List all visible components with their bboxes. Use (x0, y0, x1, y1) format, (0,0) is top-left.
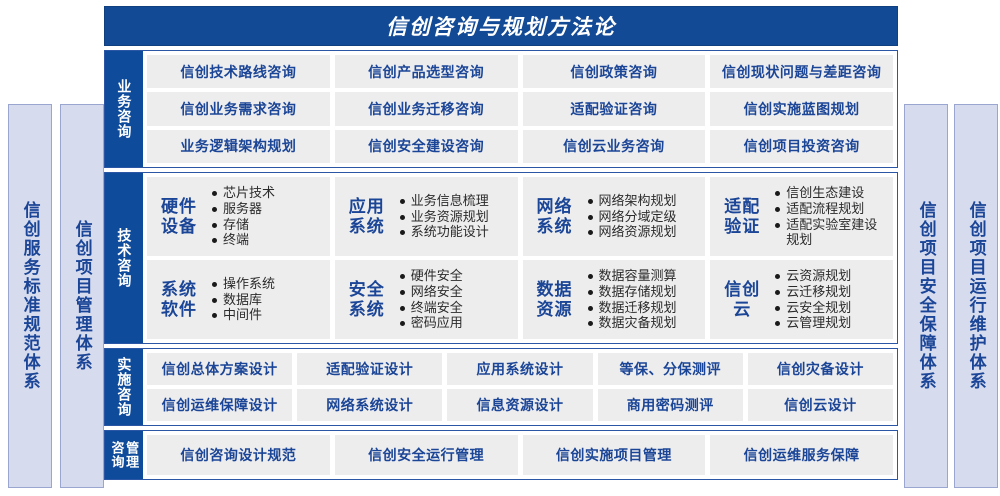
list-item: 终端 (211, 232, 324, 248)
list-item[interactable]: 适配验证咨询 (523, 92, 706, 125)
table-row: 系统软件操作系统数据库中间件安全系统硬件安全网络安全终端安全密码应用数据资源数据… (147, 260, 893, 339)
list-item: 云管理规划 (774, 315, 887, 331)
list-item: 业务资源规划 (399, 209, 512, 225)
section-label-business: 业务咨询 (105, 51, 143, 167)
pillar-label: 信创项目安全保障体系 (917, 201, 934, 391)
list-item[interactable]: 网络系统设计 (297, 389, 442, 421)
section-body-business: 信创技术路线咨询 信创产品选型咨询 信创政策咨询 信创现状问题与差距咨询 信创业… (143, 51, 897, 167)
section-label-text-col2: 管理 (125, 441, 139, 469)
list-item[interactable]: 信创运维服务保障 (710, 435, 893, 475)
tech-card-title: 应用系统 (341, 197, 393, 235)
pillar-project-management: 信创项目管理体系 (60, 104, 104, 488)
tech-card-title: 信创云 (716, 280, 768, 318)
list-item[interactable]: 信创安全建设咨询 (335, 130, 518, 163)
list-item[interactable]: 信创政策咨询 (523, 55, 706, 88)
table-row: 业务逻辑架构规划 信创安全建设咨询 信创云业务咨询 信创项目投资咨询 (147, 130, 893, 163)
list-item: 适配实验室建设规划 (774, 217, 887, 249)
list-item: 网络架构规划 (587, 193, 700, 209)
list-item: 云安全规划 (774, 300, 887, 316)
page-title: 信创咨询与规划方法论 (386, 11, 616, 41)
tech-card-title: 数据资源 (529, 280, 581, 318)
pillar-security-guarantee: 信创项目安全保障体系 (904, 104, 948, 488)
tech-card-list: 业务信息梳理业务资源规划系统功能设计 (399, 193, 512, 241)
list-item[interactable]: 业务逻辑架构规划 (147, 130, 330, 163)
list-item: 存储 (211, 217, 324, 233)
section-body-technical: 硬件设备芯片技术服务器存储终端应用系统业务信息梳理业务资源规划系统功能设计网络系… (143, 173, 897, 343)
section-label-text: 实施咨询 (117, 357, 132, 417)
diagram-canvas: 信创服务标准规范体系 信创项目管理体系 信创项目安全保障体系 信创项目运行维护体… (0, 0, 1000, 496)
tech-card[interactable]: 系统软件操作系统数据库中间件 (147, 260, 330, 339)
table-row: 信创总体方案设计 适配验证设计 应用系统设计 等保、分保测评 信创灾备设计 (147, 353, 893, 385)
tech-card-title: 网络系统 (529, 197, 581, 235)
pillar-operation-maintenance: 信创项目运行维护体系 (954, 104, 998, 488)
section-label-text: 业务咨询 (117, 79, 132, 139)
list-item: 系统功能设计 (399, 224, 512, 240)
list-item[interactable]: 信创灾备设计 (748, 353, 893, 385)
list-item: 服务器 (211, 201, 324, 217)
tech-card-list: 硬件安全网络安全终端安全密码应用 (399, 268, 512, 331)
tech-card-list: 芯片技术服务器存储终端 (211, 185, 324, 248)
list-item: 终端安全 (399, 300, 512, 316)
list-item[interactable]: 信创云设计 (748, 389, 893, 421)
section-body-management: 信创咨询设计规范 信创安全运行管理 信创实施项目管理 信创运维服务保障 (143, 431, 897, 479)
tech-card-list: 网络架构规划网络分域定级网络资源规划 (587, 193, 700, 241)
list-item: 云资源规划 (774, 268, 887, 284)
list-item[interactable]: 信创产品选型咨询 (335, 55, 518, 88)
list-item: 网络资源规划 (587, 224, 700, 240)
tech-card[interactable]: 硬件设备芯片技术服务器存储终端 (147, 177, 330, 256)
tech-card[interactable]: 数据资源数据容量测算数据存储规划数据迁移规划数据灾备规划 (523, 260, 706, 339)
list-item[interactable]: 应用系统设计 (447, 353, 592, 385)
tech-card[interactable]: 适配验证信创生态建设适配流程规划适配实验室建设规划 (710, 177, 893, 256)
section-technical-consulting: 技术咨询 硬件设备芯片技术服务器存储终端应用系统业务信息梳理业务资源规划系统功能… (104, 172, 898, 344)
tech-card[interactable]: 网络系统网络架构规划网络分域定级网络资源规划 (523, 177, 706, 256)
list-item[interactable]: 信创技术路线咨询 (147, 55, 330, 88)
list-item[interactable]: 商用密码测评 (598, 389, 743, 421)
tech-card-list: 数据容量测算数据存储规划数据迁移规划数据灾备规划 (587, 268, 700, 331)
tech-card-title: 硬件设备 (153, 197, 205, 235)
table-row: 硬件设备芯片技术服务器存储终端应用系统业务信息梳理业务资源规划系统功能设计网络系… (147, 177, 893, 256)
list-item: 密码应用 (399, 315, 512, 331)
section-label-implementation: 实施咨询 (105, 349, 143, 425)
list-item: 操作系统 (211, 276, 324, 292)
list-item[interactable]: 信创云业务咨询 (523, 130, 706, 163)
list-item: 中间件 (211, 307, 324, 323)
list-item: 数据容量测算 (587, 268, 700, 284)
pillar-label: 信创项目管理体系 (73, 220, 90, 372)
section-implementation-consulting: 实施咨询 信创总体方案设计 适配验证设计 应用系统设计 等保、分保测评 信创灾备… (104, 348, 898, 426)
tech-card-list: 信创生态建设适配流程规划适配实验室建设规划 (774, 185, 887, 248)
tech-card[interactable]: 信创云云资源规划云迁移规划云安全规划云管理规划 (710, 260, 893, 339)
list-item: 硬件安全 (399, 268, 512, 284)
list-item: 数据库 (211, 292, 324, 308)
tech-card-title: 安全系统 (341, 280, 393, 318)
list-item[interactable]: 信创业务迁移咨询 (335, 92, 518, 125)
list-item[interactable]: 信创总体方案设计 (147, 353, 292, 385)
pillar-label: 信创项目运行维护体系 (967, 201, 984, 391)
list-item: 数据迁移规划 (587, 300, 700, 316)
list-item: 业务信息梳理 (399, 193, 512, 209)
list-item[interactable]: 信创实施项目管理 (523, 435, 706, 475)
section-body-implementation: 信创总体方案设计 适配验证设计 应用系统设计 等保、分保测评 信创灾备设计 信创… (143, 349, 897, 425)
list-item: 芯片技术 (211, 185, 324, 201)
list-item[interactable]: 适配验证设计 (297, 353, 442, 385)
list-item[interactable]: 信创安全运行管理 (335, 435, 518, 475)
diagram-title-bar: 信创咨询与规划方法论 (104, 6, 898, 46)
list-item[interactable]: 等保、分保测评 (598, 353, 743, 385)
section-label-management: 咨询 管理 (105, 431, 143, 479)
list-item[interactable]: 信创咨询设计规范 (147, 435, 330, 475)
section-label-text-col1: 咨询 (110, 441, 124, 469)
list-item: 适配流程规划 (774, 201, 887, 217)
tech-card[interactable]: 安全系统硬件安全网络安全终端安全密码应用 (335, 260, 518, 339)
list-item[interactable]: 信创项目投资咨询 (710, 130, 893, 163)
table-row: 信创技术路线咨询 信创产品选型咨询 信创政策咨询 信创现状问题与差距咨询 (147, 55, 893, 88)
list-item[interactable]: 信创运维保障设计 (147, 389, 292, 421)
list-item[interactable]: 信创实施蓝图规划 (710, 92, 893, 125)
tech-card-title: 系统软件 (153, 280, 205, 318)
table-row: 信创运维保障设计 网络系统设计 信息资源设计 商用密码测评 信创云设计 (147, 389, 893, 421)
tech-card-list: 操作系统数据库中间件 (211, 276, 324, 324)
section-label-text: 技术咨询 (117, 228, 132, 288)
list-item: 信创生态建设 (774, 185, 887, 201)
pillar-service-standard: 信创服务标准规范体系 (8, 104, 52, 488)
list-item[interactable]: 信创现状问题与差距咨询 (710, 55, 893, 88)
tech-card-title: 适配验证 (716, 197, 768, 235)
list-item: 网络分域定级 (587, 209, 700, 225)
tech-card[interactable]: 应用系统业务信息梳理业务资源规划系统功能设计 (335, 177, 518, 256)
table-row: 信创咨询设计规范 信创安全运行管理 信创实施项目管理 信创运维服务保障 (147, 435, 893, 475)
section-label-technical: 技术咨询 (105, 173, 143, 343)
list-item: 云迁移规划 (774, 284, 887, 300)
pillar-label: 信创服务标准规范体系 (21, 201, 38, 391)
list-item: 网络安全 (399, 284, 512, 300)
list-item: 数据灾备规划 (587, 315, 700, 331)
list-item: 数据存储规划 (587, 284, 700, 300)
table-row: 信创业务需求咨询 信创业务迁移咨询 适配验证咨询 信创实施蓝图规划 (147, 92, 893, 125)
tech-card-list: 云资源规划云迁移规划云安全规划云管理规划 (774, 268, 887, 331)
section-consulting-management: 咨询 管理 信创咨询设计规范 信创安全运行管理 信创实施项目管理 信创运维服务保… (104, 430, 898, 480)
list-item[interactable]: 信创业务需求咨询 (147, 92, 330, 125)
list-item[interactable]: 信息资源设计 (447, 389, 592, 421)
section-business-consulting: 业务咨询 信创技术路线咨询 信创产品选型咨询 信创政策咨询 信创现状问题与差距咨… (104, 50, 898, 168)
